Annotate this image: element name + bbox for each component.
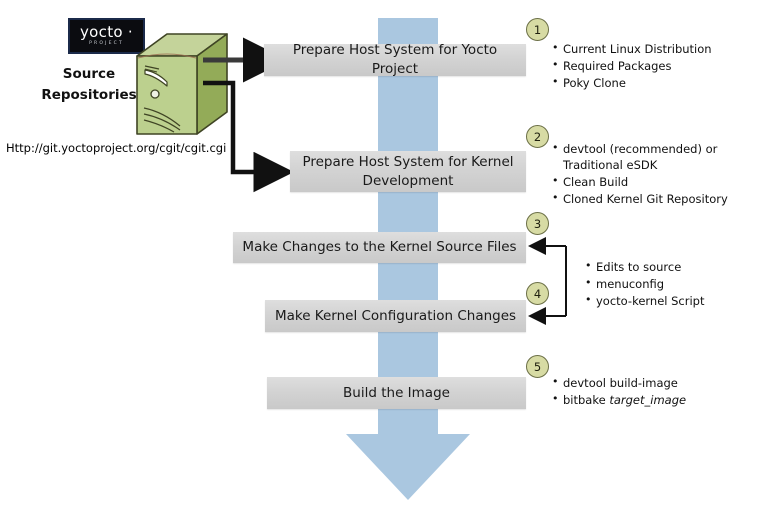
- notes-step-3-4: Edits to source menuconfig yocto-kernel …: [585, 259, 765, 310]
- logo-subtext: PROJECT: [89, 42, 124, 47]
- list-item: devtool build-image: [552, 375, 764, 391]
- server-icon: [133, 32, 231, 138]
- step-number-3: 3: [526, 212, 549, 235]
- list-item: devtool (recommended) or Traditional eSD…: [552, 141, 764, 173]
- list-item: yocto-kernel Script: [585, 293, 765, 309]
- process-box-make-kernel-source-changes[interactable]: Make Changes to the Kernel Source Files: [233, 232, 526, 263]
- step-number-2: 2: [526, 125, 549, 148]
- source-label-line1: Source: [28, 64, 150, 85]
- list-item: Poky Clone: [552, 75, 764, 91]
- process-box-prepare-host-yocto[interactable]: Prepare Host System for Yocto Project: [264, 44, 526, 76]
- step-number-1: 1: [526, 18, 549, 41]
- list-item: Required Packages: [552, 58, 764, 74]
- notes-list-step-2: devtool (recommended) or Traditional eSD…: [552, 141, 764, 207]
- note-emphasis: target_image: [609, 393, 686, 407]
- logo-wordmark: yocto ·: [80, 25, 133, 40]
- source-repositories-label: Source Repositories: [28, 64, 150, 106]
- process-box-make-kernel-config-changes[interactable]: Make Kernel Configuration Changes: [265, 300, 526, 332]
- list-item: Edits to source: [585, 259, 765, 275]
- notes-list-step-1: Current Linux Distribution Required Pack…: [552, 41, 764, 91]
- list-item: Cloned Kernel Git Repository: [552, 191, 764, 207]
- note-text: bitbake: [563, 393, 609, 407]
- list-item: bitbake target_image: [552, 392, 764, 408]
- list-item: Clean Build: [552, 174, 764, 190]
- step-number-5: 5: [526, 355, 549, 378]
- list-item: menuconfig: [585, 276, 765, 292]
- list-item: Current Linux Distribution: [552, 41, 764, 57]
- note-text: devtool build-image: [563, 376, 678, 390]
- notes-step-1: Current Linux Distribution Required Pack…: [552, 41, 764, 92]
- source-label-line2: Repositories: [28, 85, 150, 106]
- feedback-loop-arrows: [544, 246, 566, 316]
- notes-step-5: devtool build-image bitbake target_image: [552, 375, 764, 409]
- notes-step-2: devtool (recommended) or Traditional eSD…: [552, 141, 764, 208]
- process-box-build-the-image[interactable]: Build the Image: [267, 377, 526, 409]
- diagram-canvas: yocto · PROJECT Source Repositories Http…: [0, 0, 769, 517]
- notes-list-step-5: devtool build-image bitbake target_image: [552, 375, 764, 408]
- process-box-prepare-host-kernel[interactable]: Prepare Host System for Kernel Developme…: [290, 151, 526, 192]
- source-repository-url: Http://git.yoctoproject.org/cgit/cgit.cg…: [6, 141, 226, 155]
- notes-list-step-3-4: Edits to source menuconfig yocto-kernel …: [585, 259, 765, 309]
- step-number-4: 4: [526, 282, 549, 305]
